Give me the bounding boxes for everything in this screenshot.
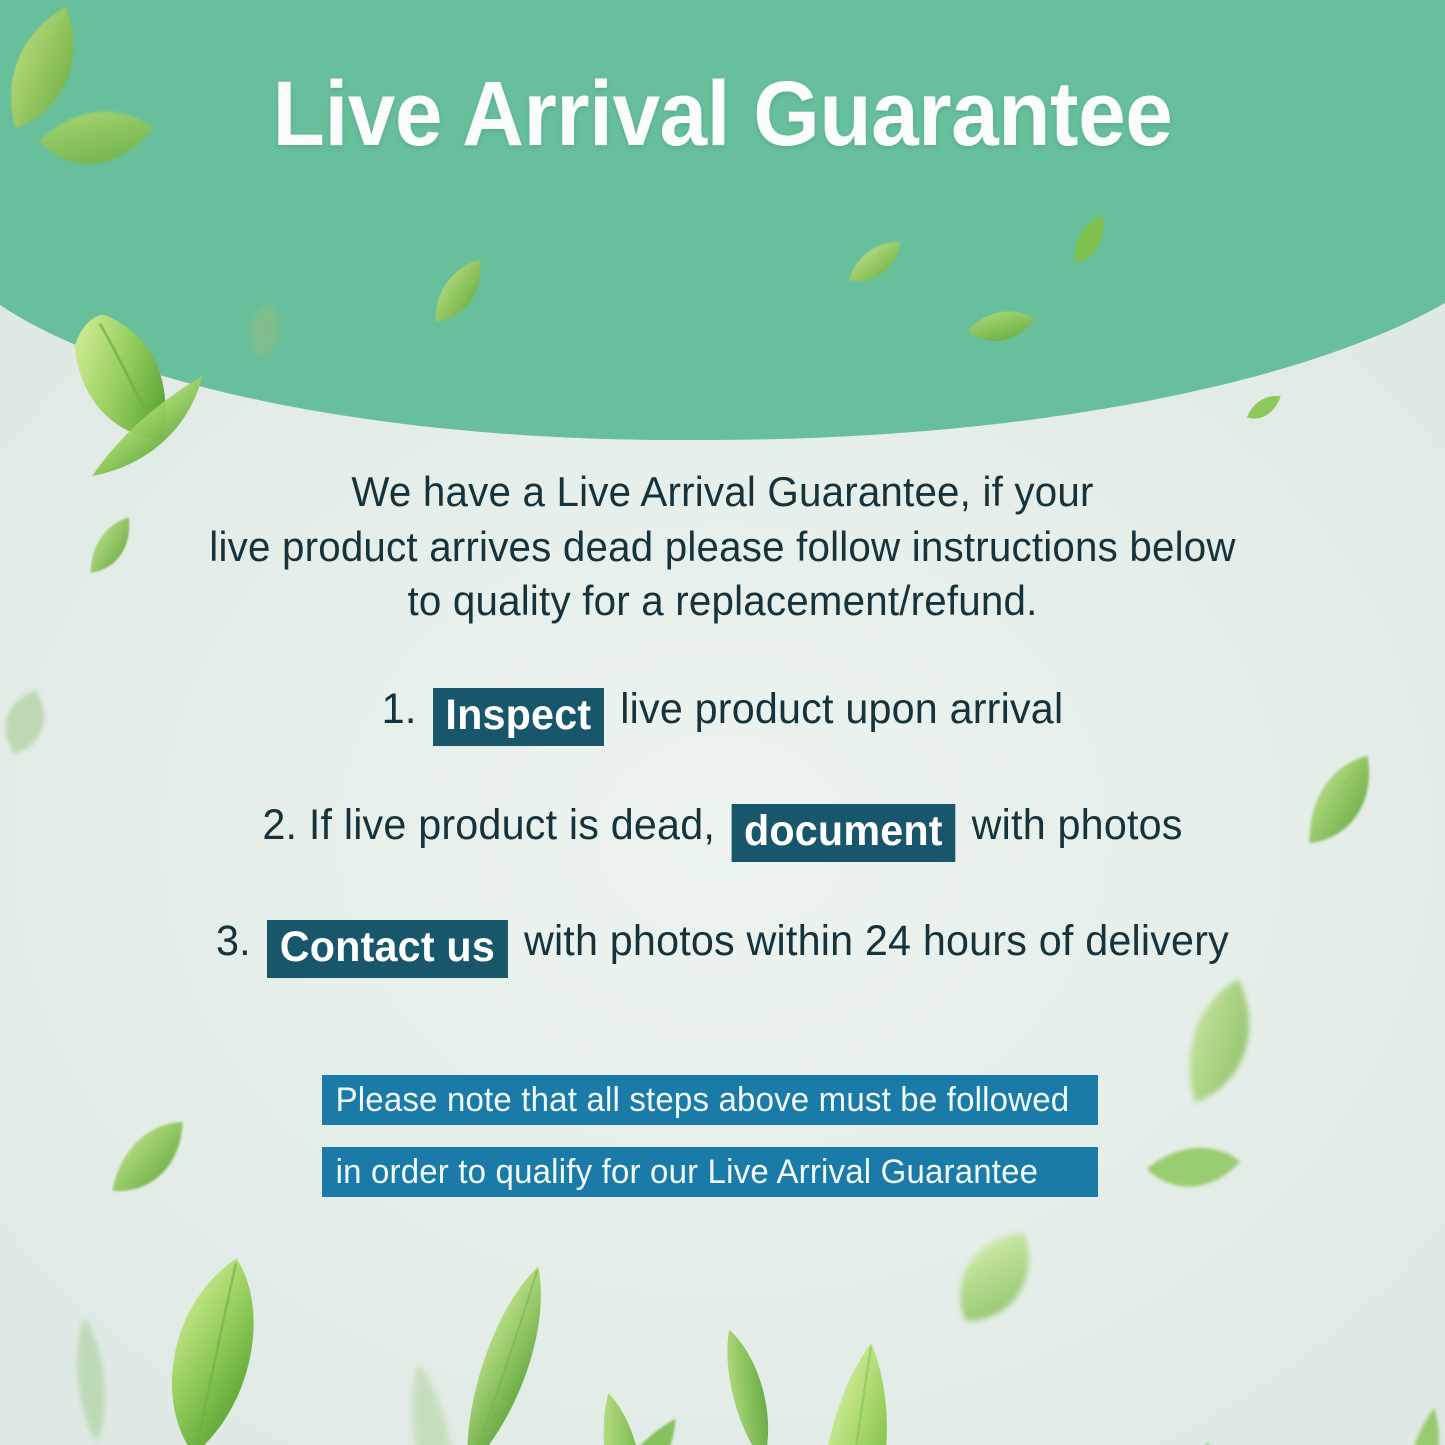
step-number-1: 1. [382,685,417,733]
leaf-icon [1238,390,1290,433]
step-text-3: with photos within 24 hours of delivery [524,917,1229,965]
intro-line-3: to quality for a replacement/refund. [29,574,1416,629]
step-highlight-document: document [731,804,955,862]
leaf-icon [85,1107,216,1224]
leaf-icon [562,1382,688,1445]
step-item-3: 3. Contact us with photos within 24 hour… [29,914,1416,972]
step-highlight-inspect: Inspect [433,688,604,746]
leaf-icon [796,1337,913,1445]
step-text-1: live product upon arrival [620,685,1063,733]
step-number-2: 2. [262,801,297,849]
leaf-icon [696,1319,804,1445]
leaf-icon [136,1242,290,1445]
note-line-1: Please note that all steps above must be… [322,1075,1098,1125]
leaf-icon [913,1192,1077,1361]
steps-list: 1. Inspect live product upon arrival 2. … [0,682,1445,1030]
leaf-icon [391,1356,476,1445]
step-item-1: 1. Inspect live product upon arrival [29,682,1416,740]
leaf-icon [1127,1113,1253,1232]
note-block: Please note that all steps above must be… [322,1075,1122,1197]
intro-line-2: live product arrives dead please follow … [29,520,1416,575]
intro-line-1: We have a Live Arrival Guarantee, if you… [29,465,1416,520]
step-text-2-after: with photos [972,801,1183,849]
step-item-2: 2. If live product is dead, document wit… [29,798,1416,856]
step-highlight-contact-us: Contact us [267,920,507,978]
leaf-icon [444,1254,569,1445]
intro-paragraph: We have a Live Arrival Guarantee, if you… [29,465,1416,629]
step-text-2-before: If live product is dead, [309,801,715,849]
leaf-icon [64,1298,119,1445]
leaf-icon [1169,1434,1271,1445]
note-line-2: in order to qualify for our Live Arrival… [322,1147,1098,1197]
leaf-icon [567,1398,703,1445]
live-arrival-guarantee-poster: Live Arrival Guarantee [0,0,1445,1445]
page-title: Live Arrival Guarantee [51,68,1395,160]
leaf-icon [1386,1402,1445,1445]
step-number-3: 3. [216,917,251,965]
